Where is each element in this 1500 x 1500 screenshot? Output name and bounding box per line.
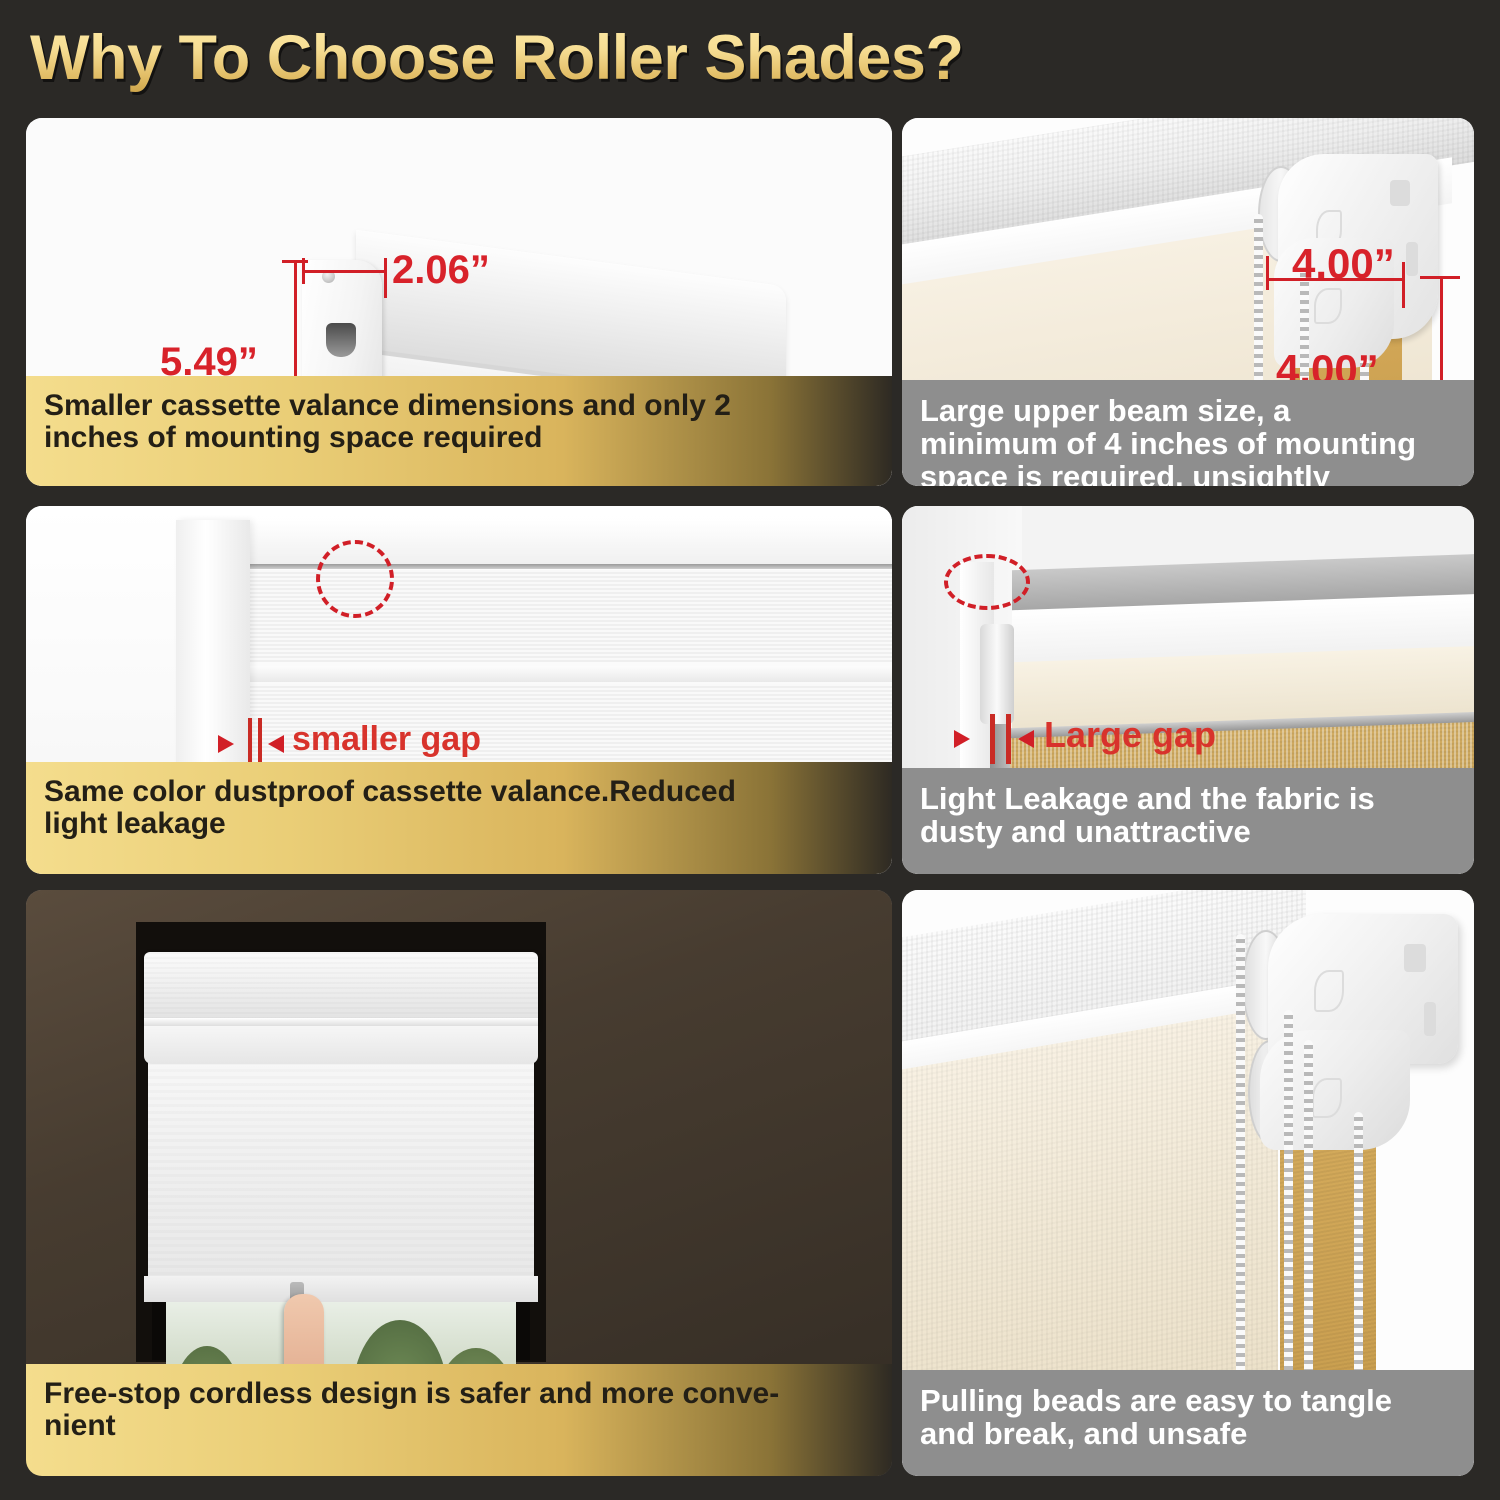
bracket-emboss-2	[1314, 288, 1342, 324]
panel-5-caption: Free-stop cordless design is safer and m…	[26, 1364, 892, 1476]
panel-2-caption-line1: Large upper beam size, a	[920, 394, 1456, 427]
panel-pulling-beads: Pulling beads are easy to tangle and bre…	[902, 890, 1474, 1476]
gap-marker-right	[1006, 714, 1011, 764]
window-frame-head	[176, 520, 892, 564]
panel-6-caption-line2: and break, and unsafe	[920, 1417, 1456, 1450]
panel-light-leakage: Large gap Light Leakage and the fabric i…	[902, 506, 1474, 874]
beam-width-label: 4.00”	[1292, 240, 1395, 288]
gap-arrow-left-icon	[954, 730, 970, 748]
panel-5-caption-line1: Free-stop cordless design is safer and m…	[44, 1378, 874, 1410]
shade-fabric	[148, 1062, 534, 1280]
shade-bottom-rail	[144, 1276, 538, 1302]
panel-2-caption-line3: space is required, unsightly	[920, 460, 1456, 486]
bracket-emboss-1	[1314, 970, 1344, 1012]
beam-height-tick-top	[1420, 276, 1460, 279]
gap-arrow-left-icon	[218, 735, 234, 753]
panel-dustproof-valance: smaller gap Same color dustproof cassett…	[26, 506, 892, 874]
cassette-texture	[144, 952, 538, 1028]
panel-2-caption-line2: minimum of 4 inches of mounting	[920, 427, 1456, 460]
panel-1-caption: Smaller cassette valance dimensions and …	[26, 376, 892, 486]
panel-2-caption: Large upper beam size, a minimum of 4 in…	[902, 380, 1474, 486]
panel-3-caption-line1: Same color dustproof cassette valance.Re…	[44, 776, 874, 808]
panel-1-caption-line2: inches of mounting space required	[44, 422, 874, 454]
small-bracket	[980, 624, 1014, 724]
panel-4-caption-line2: dusty and unattractive	[920, 815, 1456, 848]
smaller-gap-label: smaller gap	[292, 720, 481, 759]
end-cap-slot	[326, 323, 356, 357]
infographic-page: Why To Choose Roller Shades? 2.06”	[0, 0, 1500, 1500]
bracket-slot-1	[1390, 180, 1410, 206]
gap-arrow-right-icon	[268, 735, 284, 753]
beam-width-tick-left	[1266, 256, 1269, 290]
panel-3-caption-line2: light leakage	[44, 808, 874, 840]
highlight-circle-icon	[944, 554, 1030, 610]
bracket-emboss-2	[1312, 1078, 1342, 1118]
mounting-bracket-lower	[1260, 1030, 1410, 1150]
bracket-slot-1	[1404, 944, 1426, 972]
panel-6-caption-line1: Pulling beads are easy to tangle	[920, 1384, 1456, 1417]
panel-smaller-cassette: 2.06” 5.49” Smaller cassette valance dim…	[26, 118, 892, 486]
panel-3-caption: Same color dustproof cassette valance.Re…	[26, 762, 892, 874]
panel-large-upper-beam: 4.00” 4.00” Large upper beam size, a min…	[902, 118, 1474, 486]
bracket-slot-2	[1406, 242, 1418, 276]
panel-cordless-design: Free-stop cordless design is safer and m…	[26, 890, 892, 1476]
panel-4-caption: Light Leakage and the fabric is dusty an…	[902, 768, 1474, 874]
gap-arrow-right-icon	[1018, 730, 1034, 748]
page-title: Why To Choose Roller Shades?	[30, 22, 1230, 100]
panel-4-caption-line1: Light Leakage and the fabric is	[920, 782, 1456, 815]
bead-chain-1	[1236, 934, 1245, 1434]
beam-width-tick-right	[1402, 262, 1405, 308]
large-gap-label: Large gap	[1044, 714, 1216, 756]
panel-1-caption-line1: Smaller cassette valance dimensions and …	[44, 390, 874, 422]
bracket-slot-2	[1424, 1002, 1436, 1036]
cassette-valance	[144, 952, 538, 1028]
width-dim-line	[302, 270, 386, 273]
width-dim-tick-right	[384, 258, 387, 298]
shade-band-divider	[250, 666, 892, 682]
highlight-circle-icon	[316, 540, 394, 618]
panel-6-caption: Pulling beads are easy to tangle and bre…	[902, 1370, 1474, 1476]
width-dimension-label: 2.06”	[392, 248, 490, 293]
cassette-lower	[144, 1026, 538, 1064]
gap-marker-left	[990, 714, 995, 764]
height-dim-tick-top	[282, 260, 308, 263]
panel-5-caption-line2: nient	[44, 1410, 874, 1442]
